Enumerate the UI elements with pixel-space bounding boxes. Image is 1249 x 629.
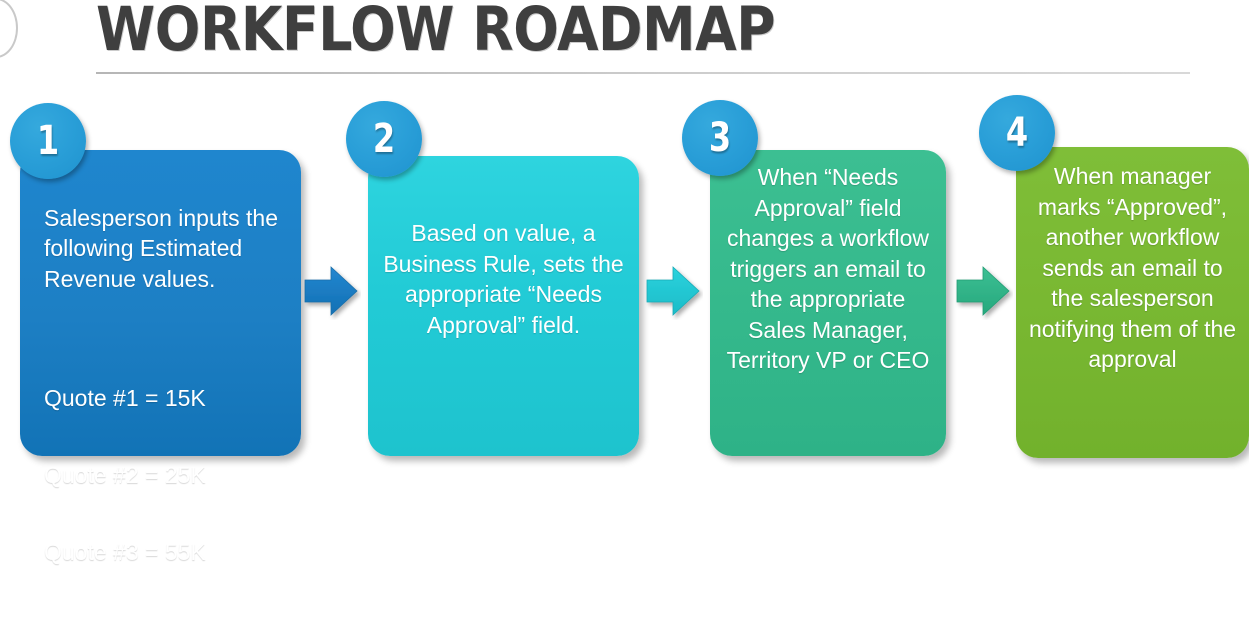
step-1-number-label: 1 [18,103,79,179]
step-4-card[interactable]: When manager marks “Approved”, another w… [1016,147,1249,458]
step-1-quote-list: Quote #1 = 15K Quote #2 = 25K Quote #3 =… [44,337,287,599]
step-1-quote-3: Quote #3 = 55K [44,537,287,568]
step-1-body: Salesperson inputs the following Estimat… [44,203,287,295]
step-2-card[interactable]: Based on value, a Business Rule, sets th… [368,156,639,456]
header: WORKFLOW ROADMAP [0,0,1249,92]
page-title: WORKFLOW ROADMAP [96,0,775,62]
step-2-number-label: 2 [354,101,415,177]
step-1-text: Salesperson inputs the following Estimat… [44,172,287,629]
title-divider [96,72,1190,74]
step-3-card[interactable]: When “Needs Approval” field changes a wo… [710,150,946,456]
step-4-number-label: 4 [987,95,1048,171]
step-1-card[interactable]: Salesperson inputs the following Estimat… [20,150,301,456]
arrow-step1-to-step2-icon [303,264,361,320]
arrow-step3-to-step4-icon [955,264,1013,320]
workflow-steps-row: Salesperson inputs the following Estimat… [0,92,1249,466]
step-1-quote-2: Quote #2 = 25K [44,460,287,491]
step-2-text: Based on value, a Business Rule, sets th… [382,218,625,340]
step-1-quote-1: Quote #1 = 15K [44,383,287,414]
step-3-number-label: 3 [690,100,751,176]
arrow-step2-to-step3-icon [645,264,703,320]
step-3-number-badge[interactable]: 3 [682,100,758,176]
step-1-number-badge[interactable]: 1 [10,103,86,179]
step-4-text: When manager marks “Approved”, another w… [1024,161,1241,375]
step-2-number-badge[interactable]: 2 [346,101,422,177]
step-3-text: When “Needs Approval” field changes a wo… [720,162,936,376]
step-4-number-badge[interactable]: 4 [979,95,1055,171]
